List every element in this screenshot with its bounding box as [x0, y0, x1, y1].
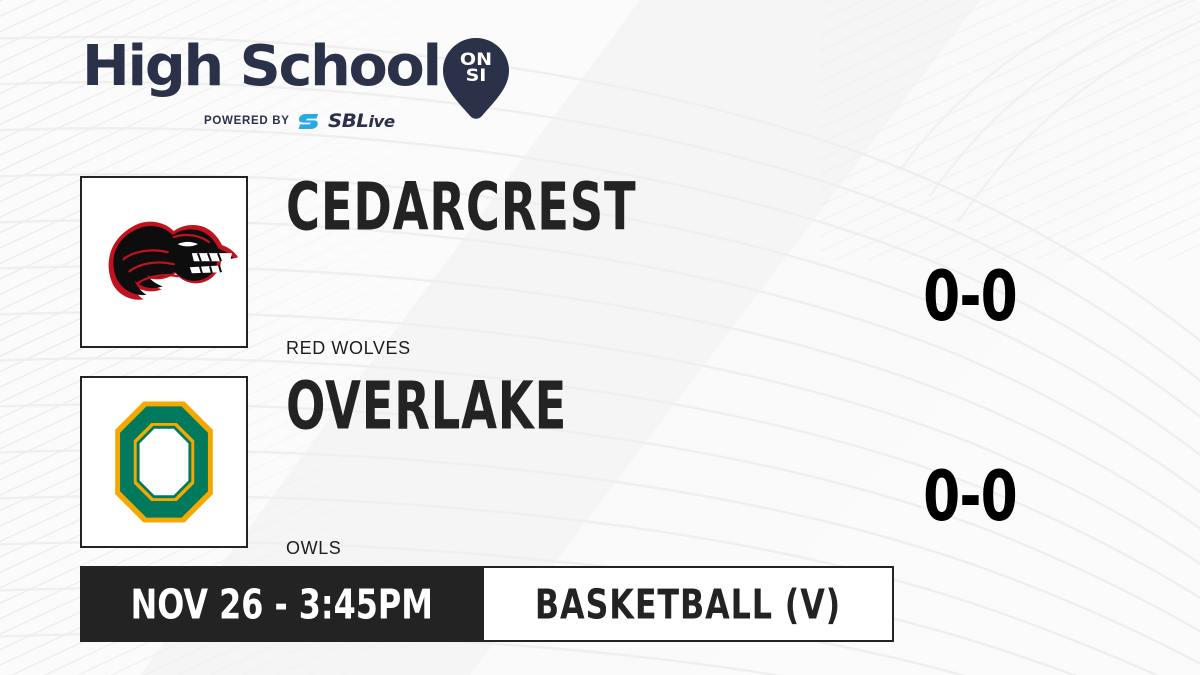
- brand-pin-label: ON SI: [436, 52, 517, 84]
- brand-logo: High School ON SI POWERED BY SBLive: [82, 38, 512, 130]
- octagon-o-logo: [82, 378, 246, 546]
- team-score: 0-0: [893, 262, 1048, 331]
- game-info-bar: NOV 26 - 3:45PM BASKETBALL (V): [80, 566, 894, 642]
- team-logo-box: [80, 376, 248, 548]
- brand-wordmark: High School: [82, 38, 440, 96]
- team-score: 0-0: [893, 462, 1048, 531]
- game-datetime-block: NOV 26 - 3:45PM: [80, 566, 484, 642]
- team-mascot: RED WOLVES: [286, 338, 411, 359]
- sblive-word-suffix: ive: [368, 112, 394, 131]
- sblive-wordmark: SBLive: [328, 110, 395, 132]
- sblive-s-mark-icon: [298, 113, 320, 130]
- wolf-head-logo: [82, 178, 246, 346]
- powered-by-label: POWERED BY: [204, 115, 290, 127]
- game-datetime-label: NOV 26 - 3:45PM: [131, 584, 433, 625]
- game-sport-block: BASKETBALL (V): [484, 566, 894, 642]
- team-name: CEDARCREST: [286, 174, 636, 240]
- team-name: OVERLAKE: [286, 373, 567, 439]
- team-logo-box: [80, 176, 248, 348]
- team-mascot: OWLS: [286, 538, 341, 559]
- sblive-word-main: SBL: [328, 110, 368, 132]
- game-sport-label: BASKETBALL (V): [534, 584, 840, 625]
- matchup-graphic: High School ON SI POWERED BY SBLive: [0, 0, 1200, 675]
- pin-line-si: SI: [436, 68, 517, 84]
- powered-by-row: POWERED BY SBLive: [204, 110, 392, 132]
